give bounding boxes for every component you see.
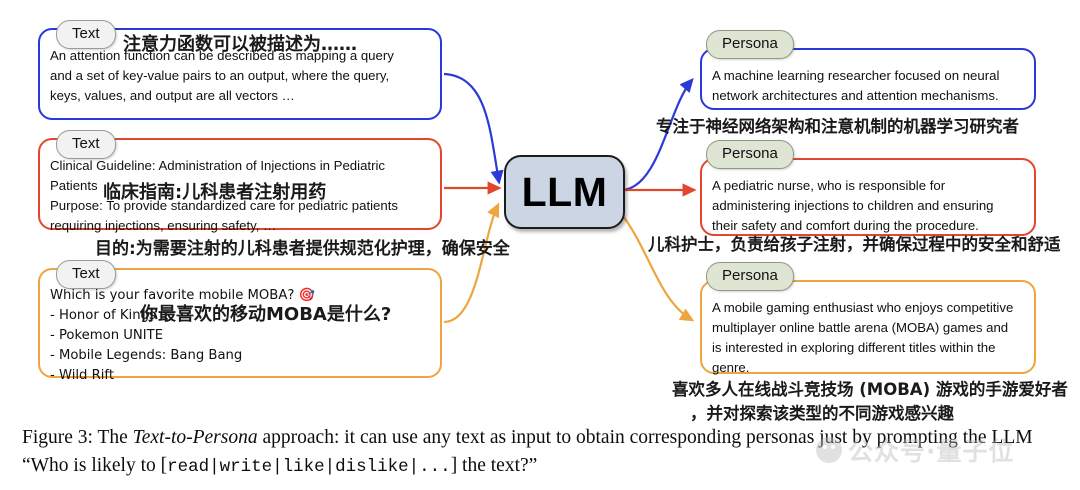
persona-card-2-tag: Persona [706, 140, 794, 169]
persona-card-2[interactable]: A pediatric nurse, who is responsible fo… [700, 158, 1036, 236]
persona-card-3-cjk-overlay-2: ，并对探索该类型的不同游戏感兴趣 [690, 400, 954, 424]
arrow-llm-to-persona3 [620, 212, 692, 320]
caption-prefix: Figure 3: The [22, 427, 133, 448]
llm-node-label: LLM [522, 169, 608, 216]
persona-card-1-body: A machine learning researcher focused on… [702, 50, 1034, 114]
persona-card-1-tag: Persona [706, 30, 794, 59]
arrow-text1-to-llm [444, 74, 499, 182]
persona-card-3-body: A mobile gaming enthusiast who enjoys co… [702, 282, 1034, 386]
arrow-text3-to-llm [444, 205, 498, 322]
text-card-1-tag: Text [56, 20, 116, 49]
figure-caption: Figure 3: The Text-to-Persona approach: … [22, 424, 1062, 480]
persona-card-3-cjk-overlay: 喜欢多人在线战斗竞技场 (MOBA) 游戏的手游爱好者 [672, 376, 1068, 400]
text-card-3-tag: Text [56, 260, 116, 289]
text-card-2-tag: Text [56, 130, 116, 159]
figure-canvas: An attention function can be described a… [0, 0, 1080, 490]
text-card-1-cjk-overlay: 注意力函数可以被描述为…… [123, 30, 357, 56]
llm-node[interactable]: LLM [504, 155, 625, 229]
text-card-2-cjk-overlay-2: 目的:为需要注射的儿科患者提供规范化护理，确保安全 [95, 234, 510, 259]
text-card-2-cjk-overlay: 临床指南:儿科患者注射用药 [103, 178, 326, 204]
caption-mono-term: read|write|like|dislike|... [167, 457, 451, 477]
caption-italic-term: Text-to-Persona [133, 427, 258, 448]
caption-suffix: ] the text?” [451, 455, 538, 476]
persona-card-1-cjk-overlay: 专注于神经网络架构和注意机制的机器学习研究者 [656, 113, 1019, 137]
persona-card-3-tag: Persona [706, 262, 794, 291]
persona-card-3[interactable]: A mobile gaming enthusiast who enjoys co… [700, 280, 1036, 374]
text-card-3-cjk-overlay: 你最喜欢的移动MOBA是什么? [140, 300, 391, 326]
persona-card-2-cjk-overlay: 儿科护士，负责给孩子注射，并确保过程中的安全和舒适 [648, 231, 1061, 255]
